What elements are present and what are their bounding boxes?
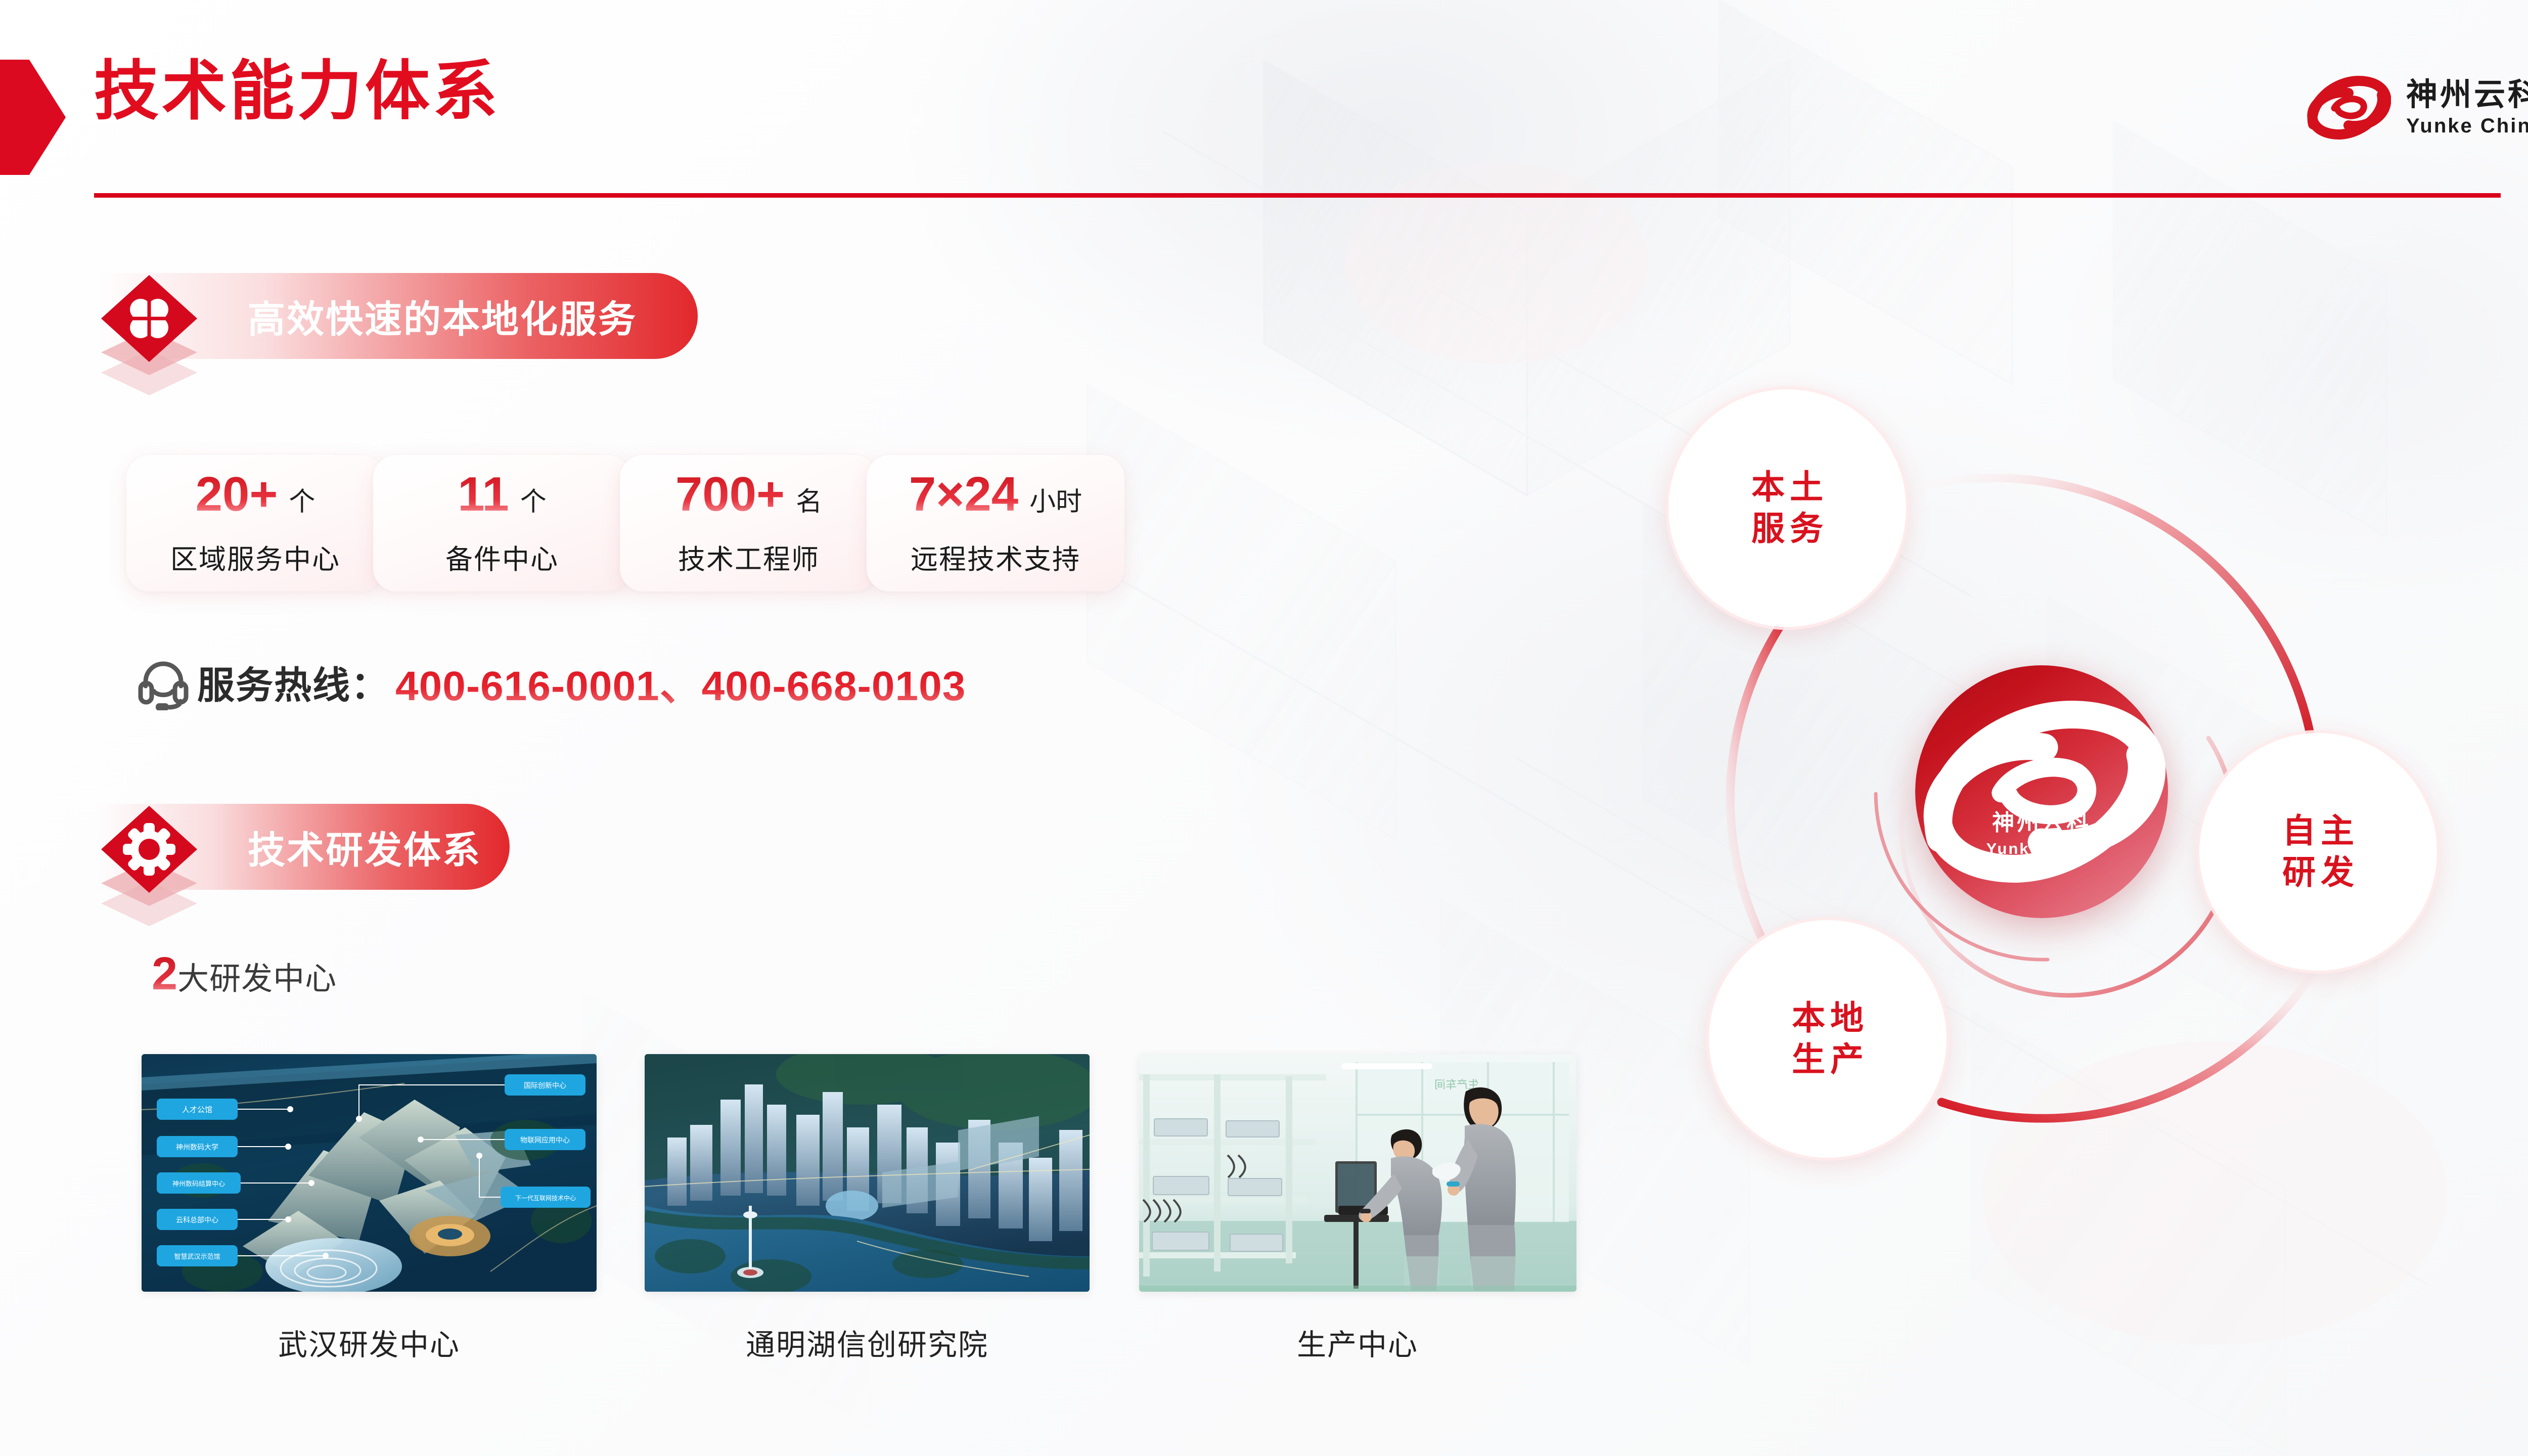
photo-production-line-workers: 生产车间 — [1139, 1054, 1576, 1292]
stat-card: 11 个 备件中心 — [373, 455, 631, 591]
yunke-swirl-logo-icon — [2306, 76, 2391, 140]
stat-unit: 个 — [289, 480, 315, 518]
logo-name-en: Yunke China — [2406, 116, 2528, 136]
rd-count-label: 大研发中心 — [177, 953, 337, 998]
photo-label: 人才公馆 — [182, 1106, 212, 1114]
stat-unit: 小时 — [1029, 480, 1082, 518]
node-line-2: 研发 — [2277, 852, 2359, 893]
rd-center-count: 2 大研发中心 — [152, 950, 337, 998]
stat-number: 700+ — [675, 470, 785, 519]
hotline-numbers: 400-616-0001、400-668-0103 — [395, 652, 966, 712]
stat-number: 7×24 — [909, 470, 1018, 519]
photo-item: 人才公馆 神州数码大学 神州数码结算中心 — [134, 1054, 604, 1363]
node-local-production: 本地 生产 — [1709, 920, 1947, 1158]
stat-unit: 名 — [796, 480, 822, 518]
photo-label: 云科总部中心 — [176, 1216, 218, 1224]
stat-label: 区域服务中心 — [170, 537, 340, 577]
stat-label: 技术工程师 — [678, 537, 820, 577]
stat-card: 7×24 小时 远程技术支持 — [867, 455, 1124, 591]
node-line-2: 服务 — [1746, 508, 1828, 550]
photo-aerial-render-campus: 人才公馆 神州数码大学 神州数码结算中心 — [142, 1054, 597, 1292]
photo-label: 下一代互联网技术中心 — [515, 1194, 576, 1202]
photo-item: 生产车间 — [1130, 1054, 1585, 1363]
photo-label: 神州数码结算中心 — [172, 1180, 225, 1188]
photo-caption: 生产中心 — [1297, 1321, 1418, 1363]
photo-item: 通明湖信创研究院 — [604, 1054, 1130, 1363]
node-independent-rd: 自主 研发 — [2199, 733, 2437, 971]
node-line-1: 本土 — [1746, 467, 1828, 508]
badge-label: 高效快速的本地化服务 — [248, 289, 637, 343]
photo-caption: 武汉研发中心 — [278, 1321, 460, 1363]
logo-name-cn: 神州云科 — [2406, 79, 2528, 111]
section-badge-rd-system: 技术研发体系 — [96, 804, 510, 890]
hotline-label: 服务热线： — [197, 655, 389, 709]
photo-label: 神州数码大学 — [176, 1143, 218, 1151]
stat-number: 11 — [458, 470, 509, 519]
diagram-core-logo: 神州云科 Yunke China — [1915, 665, 2168, 918]
header-divider — [94, 193, 2501, 198]
stat-label: 远程技术支持 — [911, 537, 1080, 577]
rd-photo-gallery: 人才公馆 神州数码大学 神州数码结算中心 — [134, 1054, 1585, 1363]
section-badge-localized-service: 高效快速的本地化服务 — [96, 273, 698, 359]
clover-diamond-icon — [96, 270, 202, 396]
service-stats-row: 20+ 个 区域服务中心 11 个 备件中心 700+ 名 技术工程师 7×24… — [126, 455, 1113, 591]
stat-number: 20+ — [196, 470, 278, 519]
slide-root: 技术能力体系 神州云科 Yunke China 高效快速的本地化服务 — [0, 0, 2528, 1456]
stat-unit: 个 — [520, 480, 547, 518]
node-line-1: 本地 — [1787, 997, 1869, 1039]
photo-label: 物联网应用中心 — [520, 1136, 570, 1144]
gear-diamond-icon — [96, 801, 202, 927]
photo-label: 智慧武汉示范馆 — [174, 1253, 220, 1260]
rd-count-number: 2 — [152, 950, 177, 997]
capability-circle-diagram: 本土 服务 自主 研发 本地 生产 神州云科 Yunke China — [1658, 384, 2467, 1203]
stat-card: 700+ 名 技术工程师 — [620, 455, 878, 591]
photo-caption: 通明湖信创研究院 — [746, 1321, 988, 1363]
node-line-1: 自主 — [2277, 810, 2359, 852]
page-title: 技术能力体系 — [94, 58, 501, 125]
node-line-2: 生产 — [1787, 1039, 1869, 1080]
photo-aerial-city-lake — [645, 1054, 1090, 1292]
yunke-swirl-logo-icon — [1991, 725, 2092, 801]
title-arrow-accent — [0, 60, 66, 175]
stat-card: 20+ 个 区域服务中心 — [126, 455, 384, 591]
service-hotline: 服务热线： 400-616-0001、400-668-0103 — [136, 652, 966, 712]
photo-label: 国际创新中心 — [524, 1081, 566, 1089]
headset-icon — [136, 655, 191, 710]
brand-logo: 神州云科 Yunke China — [2306, 76, 2528, 140]
node-local-service: 本土 服务 — [1668, 389, 1906, 627]
stat-label: 备件中心 — [445, 537, 559, 577]
badge-label: 技术研发体系 — [248, 820, 481, 874]
